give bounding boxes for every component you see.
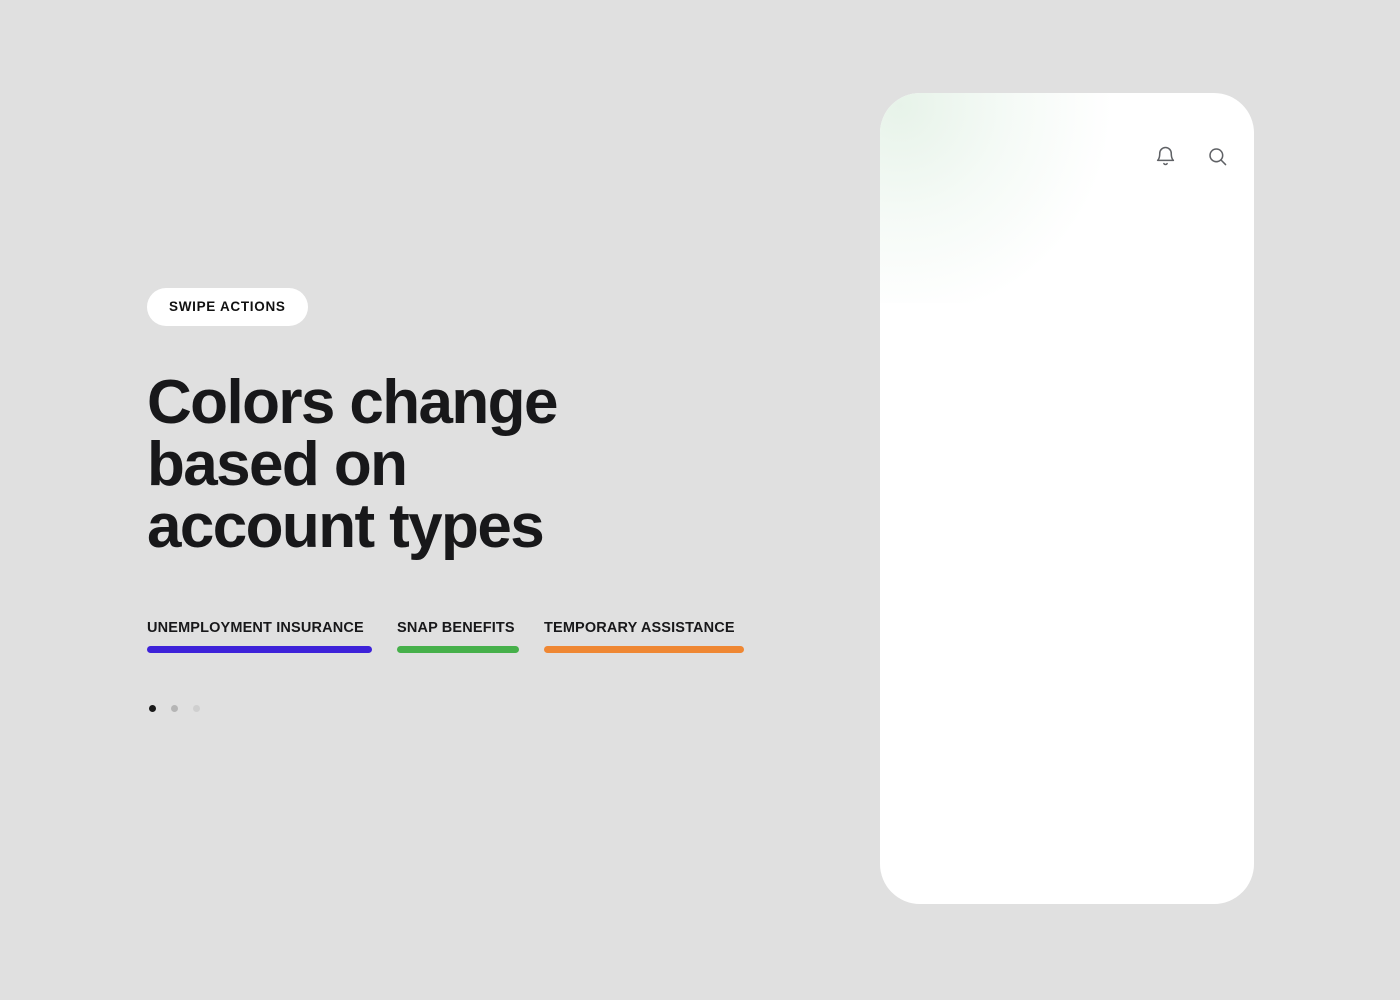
search-icon: [1206, 145, 1229, 168]
tab-underline-bar: [147, 646, 372, 653]
tab-label: UNEMPLOYMENT INSURANCE: [147, 620, 372, 637]
notifications-button[interactable]: [1152, 143, 1178, 169]
carousel-pagination: [147, 705, 787, 712]
corner-glow: [880, 93, 1120, 303]
slide-canvas: SWIPE ACTIONS Colors change based on acc…: [0, 0, 1400, 1000]
phone-mockup: [880, 93, 1254, 904]
swipe-actions-badge: SWIPE ACTIONS: [147, 288, 308, 326]
page-title: Colors change based on account types: [147, 372, 567, 558]
headline-line-1: Colors change: [147, 368, 557, 437]
tab-underline-bar: [397, 646, 519, 653]
tab-label: SNAP BENEFITS: [397, 620, 519, 637]
account-type-tabs: UNEMPLOYMENT INSURANCE SNAP BENEFITS TEM…: [147, 620, 787, 653]
tab-temporary-assistance[interactable]: TEMPORARY ASSISTANCE: [544, 620, 744, 653]
pagination-dot[interactable]: [171, 705, 178, 712]
hero-content: SWIPE ACTIONS Colors change based on acc…: [147, 288, 787, 712]
phone-top-bar: [1152, 143, 1230, 169]
tab-snap-benefits[interactable]: SNAP BENEFITS: [397, 620, 519, 653]
tab-unemployment-insurance[interactable]: UNEMPLOYMENT INSURANCE: [147, 620, 372, 653]
pagination-dot[interactable]: [149, 705, 156, 712]
tab-label: TEMPORARY ASSISTANCE: [544, 620, 744, 637]
tab-underline-bar: [544, 646, 744, 653]
headline-line-3: account types: [147, 492, 543, 561]
headline-line-2: based on: [147, 430, 406, 499]
pagination-dot[interactable]: [193, 705, 200, 712]
bell-icon: [1154, 145, 1177, 168]
search-button[interactable]: [1204, 143, 1230, 169]
